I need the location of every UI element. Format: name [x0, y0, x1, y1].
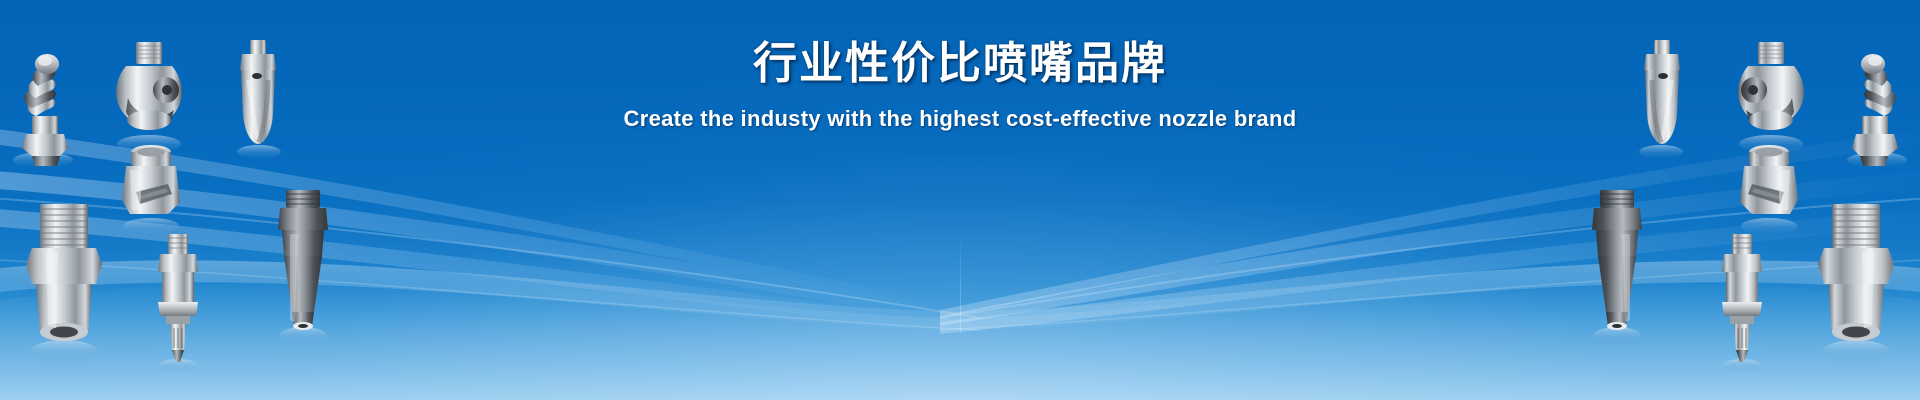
hex-threaded-nozzle [1808, 200, 1904, 380]
tapered-cone-nozzle [268, 186, 338, 356]
hero-banner: 行业性价比喷嘴品牌 Create the industy with the hi… [0, 0, 1920, 400]
deflector-nozzle [110, 140, 192, 236]
banner-title: 行业性价比喷嘴品牌 [0, 38, 1920, 90]
banner-subtitle: Create the industy with the highest cost… [0, 106, 1920, 132]
hex-threaded-nozzle [16, 200, 112, 380]
tapered-cone-nozzle [1582, 186, 1652, 356]
air-atomizing-nozzle [146, 232, 210, 382]
air-atomizing-nozzle [1710, 232, 1774, 382]
deflector-nozzle [1728, 140, 1810, 236]
banner-text-block: 行业性价比喷嘴品牌 Create the industy with the hi… [0, 38, 1920, 132]
